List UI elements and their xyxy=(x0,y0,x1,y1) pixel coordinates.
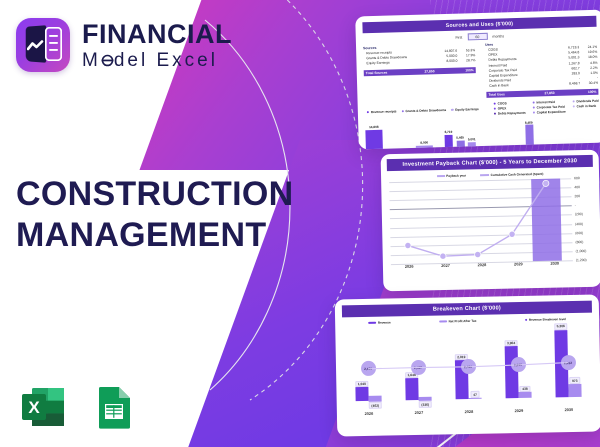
bar-column[interactable]: 1,268 xyxy=(479,118,488,150)
brand-subtitle-post: del Excel xyxy=(114,51,218,70)
uses-total-value: 27,850 xyxy=(529,91,555,96)
legend-column: Interest PaidCorporate Tax PaidCapital E… xyxy=(532,100,565,115)
period-prefix: First xyxy=(455,35,462,39)
sources-bar-chart[interactable]: 14,8085,0008,000 xyxy=(365,119,433,149)
y-axis-tick-label: (1,000) xyxy=(576,249,587,253)
sources-total-row: Total Sources 27,850 100% xyxy=(364,67,476,76)
legend-label: Revenue xyxy=(378,320,391,324)
breakeven-group[interactable]: 5,3069732,612 xyxy=(542,323,594,406)
legend-swatch-icon xyxy=(494,112,496,114)
legend-swatch-icon xyxy=(439,320,447,323)
legend-label: Net Profit After Tax xyxy=(449,319,477,324)
y-axis-tick-label: (600) xyxy=(575,231,583,235)
payback-plot-area[interactable]: 600400200-(200)(400)(600)(800)(1,000)(1,… xyxy=(389,178,573,264)
uses-total-pct: 100% xyxy=(578,90,596,95)
uses-bar-chart[interactable]: 6,7195,4655,0011,268603283-8,469 xyxy=(444,117,534,150)
legend-item: Dividends Paid xyxy=(572,99,598,104)
legend-swatch-icon xyxy=(367,111,369,113)
y-axis-tick-label: 400 xyxy=(574,185,580,189)
row-label: Cash in Bank xyxy=(486,82,554,89)
sources-uses-tables: Sources Revenue receipts14,807.653.3%Gra… xyxy=(363,40,598,101)
bar-value-label: 5,001 xyxy=(468,137,476,141)
legend-swatch-icon xyxy=(533,106,535,108)
y-axis-tick-label: (200) xyxy=(575,213,583,217)
legend-label: Cash in Bank xyxy=(577,104,597,109)
breakeven-plot-area[interactable]: 1,040(462)2,4301,648(336)2,4572,919472,4… xyxy=(342,323,594,410)
brand-o-glyph-icon xyxy=(101,52,114,69)
logo-list-icon xyxy=(45,27,62,61)
legend-label: Revenue Breakeven level xyxy=(529,317,566,322)
breakeven-group[interactable]: 3,9044382,505 xyxy=(492,324,544,407)
legend-marker-icon xyxy=(525,319,528,322)
panel-breakeven[interactable]: Breakeven Chart ($'000) Revenue Net Prof… xyxy=(335,294,600,436)
legend-swatch-icon xyxy=(533,111,535,113)
bar[interactable] xyxy=(505,346,519,398)
bar[interactable] xyxy=(355,387,368,401)
breakeven-title: Breakeven Chart ($'000) xyxy=(342,301,592,318)
row-percent: 30.4% xyxy=(580,81,598,87)
bar-column[interactable]: 5,465 xyxy=(456,119,465,150)
cumulative-cash-line xyxy=(389,178,565,264)
bar[interactable] xyxy=(405,378,418,400)
legend-column: COGSOPEXDebts Repayments xyxy=(494,101,526,116)
legend-column: Dividends PaidCash in Bank xyxy=(572,99,599,114)
bar-column[interactable]: 8,469 xyxy=(525,117,534,150)
bar[interactable] xyxy=(469,398,482,399)
legend-label: Revenue receipts xyxy=(371,109,397,114)
breakeven-group[interactable]: 1,040(462)2,430 xyxy=(342,326,394,409)
x-axis-tick-label: 2030 xyxy=(544,407,594,413)
legend-label: Dividends Paid xyxy=(576,99,598,104)
bar-value-label: 5,465 xyxy=(456,135,464,139)
legend-item: Grants & Debts Drawdowns xyxy=(401,103,446,118)
google-sheets-icon xyxy=(88,381,140,433)
page-title: CONSTRUCTION MANAGEMENT xyxy=(16,174,293,257)
bar-column[interactable]: 5,001 xyxy=(467,118,476,149)
row-label: Equity Earnings xyxy=(363,60,431,67)
x-axis-tick-label: 2026 xyxy=(344,410,394,416)
bar-column[interactable]: 14,808 xyxy=(365,121,383,150)
legend-item: Cash in Bank xyxy=(573,104,599,109)
panel-sources-and-uses[interactable]: Sources and Uses ($'000) First 60 months… xyxy=(355,10,600,150)
legend-label: Debts Repayments xyxy=(498,111,526,116)
legend-label: Interest Paid xyxy=(536,100,555,105)
breakeven-marker[interactable]: 2,612 xyxy=(560,355,575,370)
row-value: 8,468.7 xyxy=(554,81,580,87)
bar-column[interactable]: 5,000 xyxy=(390,120,408,149)
y-axis-tick-label: 200 xyxy=(574,194,580,198)
bar-value-label: 14,808 xyxy=(369,125,379,129)
y-axis-tick-label: 600 xyxy=(574,176,580,180)
legend-item: Capital Expenditure xyxy=(533,110,566,115)
period-value[interactable]: 60 xyxy=(467,33,487,41)
row-percent: 28.7% xyxy=(457,59,475,65)
payback-title: Investment Payback Chart ($'000) - 5 Yea… xyxy=(387,155,593,171)
bar-value-label: 8,000 xyxy=(420,141,428,145)
y-axis-tick-label: (800) xyxy=(575,240,583,244)
bar-value-label: 6,719 xyxy=(445,130,453,134)
excel-icon: X xyxy=(18,381,70,433)
legend-net-profit: Net Profit After Tax xyxy=(439,319,477,324)
x-axis-tick-label: 2027 xyxy=(394,409,444,415)
sources-total-pct: 100% xyxy=(456,68,474,73)
y-axis-tick-label: (400) xyxy=(575,222,583,226)
bar-value-label: 8,469 xyxy=(525,120,533,124)
legend-label: Cumulative Cash Generated (Spent) xyxy=(491,172,544,177)
legend-swatch-icon xyxy=(401,110,403,112)
legend-swatch-icon xyxy=(573,105,575,107)
panel-investment-payback[interactable]: Investment Payback Chart ($'000) - 5 Yea… xyxy=(381,150,600,292)
legend-swatch-icon xyxy=(532,101,534,103)
legend-item: Debts Repayments xyxy=(494,111,526,116)
legend-breakeven-level: Revenue Breakeven level xyxy=(525,317,566,322)
legend-swatch-icon xyxy=(368,321,376,324)
legend-swatch-icon xyxy=(494,107,496,109)
legend-cumulative-cash: Cumulative Cash Generated (Spent) xyxy=(480,172,543,177)
bar-column[interactable]: 8,000 xyxy=(415,119,433,149)
brand-logo: FINANCIAL M del Excel xyxy=(16,18,232,72)
breakeven-group[interactable]: 1,648(336)2,457 xyxy=(392,325,444,408)
sources-total-value: 27,850 xyxy=(408,69,434,74)
x-axis-tick-label: 2029 xyxy=(494,408,544,414)
breakeven-marker[interactable]: 2,436 xyxy=(460,359,475,374)
sources-total-label: Total Sources xyxy=(366,70,388,75)
legend-swatch-icon xyxy=(451,109,453,111)
legend-item: Equity Earnings xyxy=(451,102,479,117)
brand-title: FINANCIAL xyxy=(82,21,232,48)
svg-text:X: X xyxy=(28,398,40,417)
x-axis-tick-label: 2028 xyxy=(444,409,494,415)
brand-subtitle-pre: M xyxy=(82,51,101,70)
legend-label: OPEX xyxy=(498,106,507,110)
uses-total-row: Total Uses 27,850 100% xyxy=(486,89,598,98)
y-axis-tick-label: (1,200) xyxy=(576,258,587,262)
uses-total-label: Total Uses xyxy=(488,92,505,96)
bar[interactable] xyxy=(568,384,581,397)
row-value: 8,000.0 xyxy=(431,59,457,65)
headline-line-2: MANAGEMENT xyxy=(16,215,293,256)
uses-table: Uses COGS6,719.324.1%OPEX5,464.819.6%Deb… xyxy=(485,40,598,98)
poster-canvas: FINANCIAL M del Excel CONSTRUCTION MANAG… xyxy=(0,0,600,447)
logo-wave-icon xyxy=(27,40,44,53)
legend-label: Capital Expenditure xyxy=(537,110,566,115)
bar-column[interactable]: 6,719 xyxy=(444,119,453,150)
legend-payback-year: Payback year xyxy=(437,174,466,179)
legend-swatch-icon xyxy=(494,102,496,104)
legend-revenue: Revenue xyxy=(368,320,391,324)
headline-line-1: CONSTRUCTION xyxy=(16,174,293,215)
legend-label: Payback year xyxy=(446,174,466,178)
sources-table: Sources Revenue receipts14,807.653.3%Gra… xyxy=(363,43,476,101)
legend-swatch-icon xyxy=(437,175,445,178)
legend-label: Equity Earnings xyxy=(455,107,479,112)
legend-swatch-icon xyxy=(572,100,574,102)
legend-label: Grants & Debts Drawdowns xyxy=(405,108,446,113)
brand-subtitle: M del Excel xyxy=(82,51,232,70)
bar-value-label: (462) xyxy=(369,402,382,409)
bar-value-label: (336) xyxy=(419,401,432,408)
bar-column[interactable]: 283 xyxy=(502,117,511,149)
legend-item: Revenue receipts xyxy=(367,104,397,119)
bar[interactable] xyxy=(519,392,532,398)
y-axis-tick-label: - xyxy=(575,204,576,208)
legend-label: COGS xyxy=(498,101,507,105)
bar-column[interactable]: - xyxy=(513,117,522,149)
bar-column[interactable]: 603 xyxy=(490,118,499,150)
breakeven-marker[interactable]: 2,457 xyxy=(410,360,425,375)
breakeven-group[interactable]: 2,919472,436 xyxy=(442,325,494,408)
period-suffix: months xyxy=(492,34,504,38)
financial-model-logo-icon xyxy=(16,18,70,72)
bar[interactable] xyxy=(365,130,383,150)
legend-label: Corporate Tax Paid xyxy=(537,105,565,110)
legend-line-icon xyxy=(480,174,489,175)
file-format-icons: X xyxy=(18,381,140,433)
